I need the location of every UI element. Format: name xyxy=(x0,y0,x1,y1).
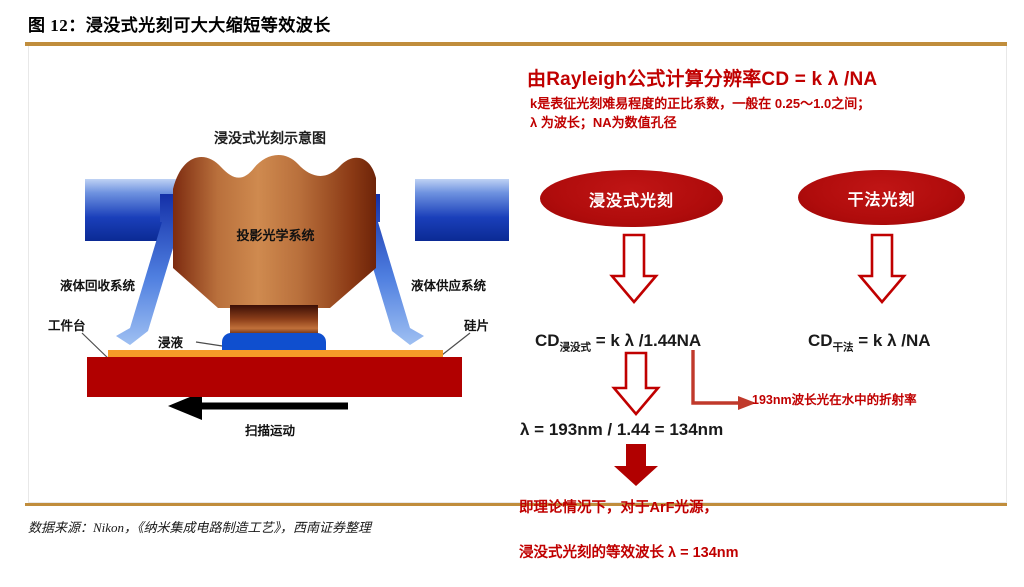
figure-root: 图 12：浸没式光刻可大大缩短等效波长 数据来源：Nikon，《纳米集成电路制造… xyxy=(0,0,1024,549)
rayleigh-explanation-panel: 由Rayleigh公式计算分辨率CD = k λ /NA k是表征光刻难易程度的… xyxy=(520,50,1007,500)
formula-immersion-prefix: CD xyxy=(535,331,560,350)
refraction-connector xyxy=(693,350,756,410)
hollow-arrow-immersion-1 xyxy=(612,235,656,302)
formula-immersion-rest: = k λ /1.44NA xyxy=(591,331,701,350)
liquid-supply-label: 液体供应系统 xyxy=(411,275,486,294)
projection-optics-label: 投影光学系统 xyxy=(173,225,378,244)
formula-immersion: CD浸没式 = k λ /1.44NA xyxy=(535,331,701,354)
wafer-leader xyxy=(442,333,470,355)
page-title: 图 12：浸没式光刻可大大缩短等效波长 xyxy=(28,11,331,36)
hollow-arrow-dry xyxy=(860,235,904,302)
wafer-label: 硅片 xyxy=(464,315,489,334)
liquid-recovery-label: 液体回收系统 xyxy=(60,275,135,294)
source-note: 数据来源：Nikon，《纳米集成电路制造工艺》，西南证券整理 xyxy=(28,517,371,536)
stage-label: 工件台 xyxy=(48,315,86,334)
immersion-liquid-label: 浸液 xyxy=(158,332,183,351)
formula-dry: CD干法 = k λ /NA xyxy=(808,331,931,354)
scan-motion-label: 扫描运动 xyxy=(30,420,510,439)
formula-dry-prefix: CD xyxy=(808,331,833,350)
conclusion-line2: 浸没式光刻的等效波长 λ = 134nm xyxy=(519,542,739,564)
wafer-stage xyxy=(87,357,462,397)
lambda-result: λ = 193nm / 1.44 = 134nm xyxy=(520,420,723,440)
formula-dry-subscript: 干法 xyxy=(833,341,854,353)
lens-barrel xyxy=(230,305,318,335)
hollow-arrow-immersion-2 xyxy=(614,353,658,414)
conclusion-line1: 即理论情况下，对于ArF光源， xyxy=(519,497,739,519)
formula-immersion-subscript: 浸没式 xyxy=(560,341,592,353)
immersion-lithography-diagram: 浸没式光刻示意图 xyxy=(30,50,510,500)
bottom-rule xyxy=(25,503,1007,506)
refraction-index-note: 193nm波长光在水中的折射率 xyxy=(752,389,917,408)
formula-dry-rest: = k λ /NA xyxy=(854,331,931,350)
recovery-pipe xyxy=(116,194,180,345)
conclusion-text: 即理论情况下，对于ArF光源， 浸没式光刻的等效波长 λ = 134nm xyxy=(519,475,739,587)
